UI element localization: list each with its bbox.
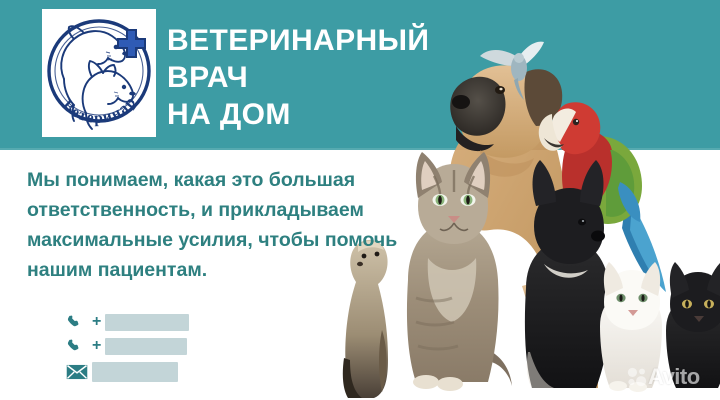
phone-prefix: + <box>92 313 101 331</box>
logo-artwork: Ветеринар <box>42 9 156 137</box>
avito-wordmark: Avito <box>648 364 700 390</box>
advertisement-banner: Ветеринар ВЕТЕРИНАРНЫЙ ВРАЧ НА ДОМ Мы по… <box>0 0 720 400</box>
contact-list: + + <box>66 310 316 386</box>
french-bulldog <box>525 160 610 388</box>
phone-prefix: + <box>92 337 101 355</box>
tagline-paragraph: Мы понимаем, какая это большая ответстве… <box>27 165 407 285</box>
svg-text:Ветеринар: Ветеринар <box>59 93 140 127</box>
avito-dots-icon <box>626 366 648 388</box>
contact-row-phone-2[interactable]: + <box>66 334 316 358</box>
veterinar-logo: Ветеринар <box>42 9 156 137</box>
phone-number-redacted[interactable] <box>105 314 189 331</box>
envelope-icon <box>66 361 92 383</box>
page-title: ВЕТЕРИНАРНЫЙ ВРАЧ НА ДОМ <box>167 22 497 133</box>
avito-watermark: Avito <box>626 364 700 390</box>
contact-row-phone-1[interactable]: + <box>66 310 316 334</box>
phone-icon <box>66 335 92 357</box>
phone-icon <box>66 311 92 333</box>
logo-brand-text: Ветеринар <box>59 93 140 127</box>
contact-row-email[interactable] <box>66 358 316 386</box>
phone-number-redacted[interactable] <box>105 338 187 355</box>
email-redacted[interactable] <box>92 362 178 382</box>
